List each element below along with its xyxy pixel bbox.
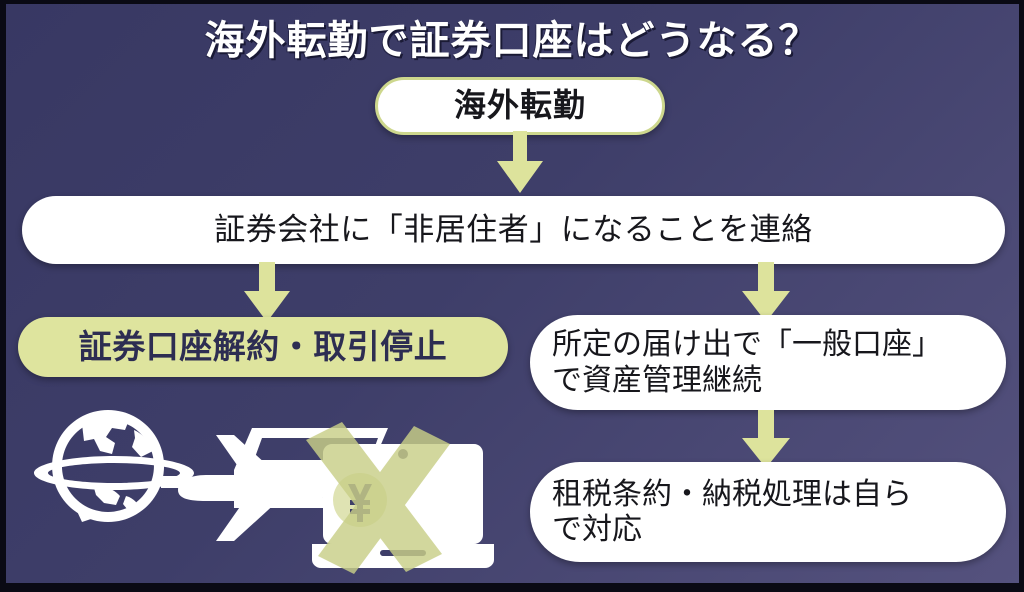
slide-canvas: 海外転勤で証券口座はどうなる？ 海外転勤 証券会社に「非居住者」になることを連絡… xyxy=(0,0,1024,592)
flow-node-general-account-line2: で資産管理継続 xyxy=(552,363,942,398)
arrow-general-to-tax-icon xyxy=(742,410,790,468)
slide-title: 海外転勤で証券口座はどうなる？ xyxy=(0,8,1024,66)
illustration-group xyxy=(30,392,530,588)
frame-edge-right xyxy=(1019,0,1024,592)
flow-node-start: 海外転勤 xyxy=(375,77,665,135)
flow-node-notify-label: 証券会社に「非居住者」になることを連絡 xyxy=(214,212,813,249)
flow-node-general-account-text: 所定の届け出で「一般口座」 で資産管理継続 xyxy=(552,327,942,398)
illustration-svg xyxy=(30,392,530,588)
flow-node-tax-handling-line1: 租税条約・納税処理は自ら xyxy=(552,477,912,512)
flow-node-tax-handling: 租税条約・納税処理は自ら で対応 xyxy=(530,462,1006,562)
arrow-notify-to-general-icon xyxy=(742,262,790,322)
flow-node-close-account-label: 証券口座解約・取引停止 xyxy=(79,328,448,367)
frame-edge-top xyxy=(0,0,1024,4)
flow-node-general-account-line1: 所定の届け出で「一般口座」 xyxy=(552,327,942,362)
flow-node-start-label: 海外転勤 xyxy=(454,87,586,125)
globe-icon xyxy=(34,410,194,522)
flow-node-notify: 証券会社に「非居住者」になることを連絡 xyxy=(22,196,1005,264)
flow-node-tax-handling-text: 租税条約・納税処理は自ら で対応 xyxy=(552,477,912,548)
frame-edge-left xyxy=(0,0,6,592)
flow-node-close-account: 証券口座解約・取引停止 xyxy=(18,317,508,377)
arrow-notify-to-close-icon xyxy=(244,262,290,322)
flow-node-tax-handling-line2: で対応 xyxy=(552,512,912,547)
arrow-start-to-notify-icon xyxy=(497,131,543,193)
flow-node-general-account: 所定の届け出で「一般口座」 で資産管理継続 xyxy=(530,315,1006,410)
